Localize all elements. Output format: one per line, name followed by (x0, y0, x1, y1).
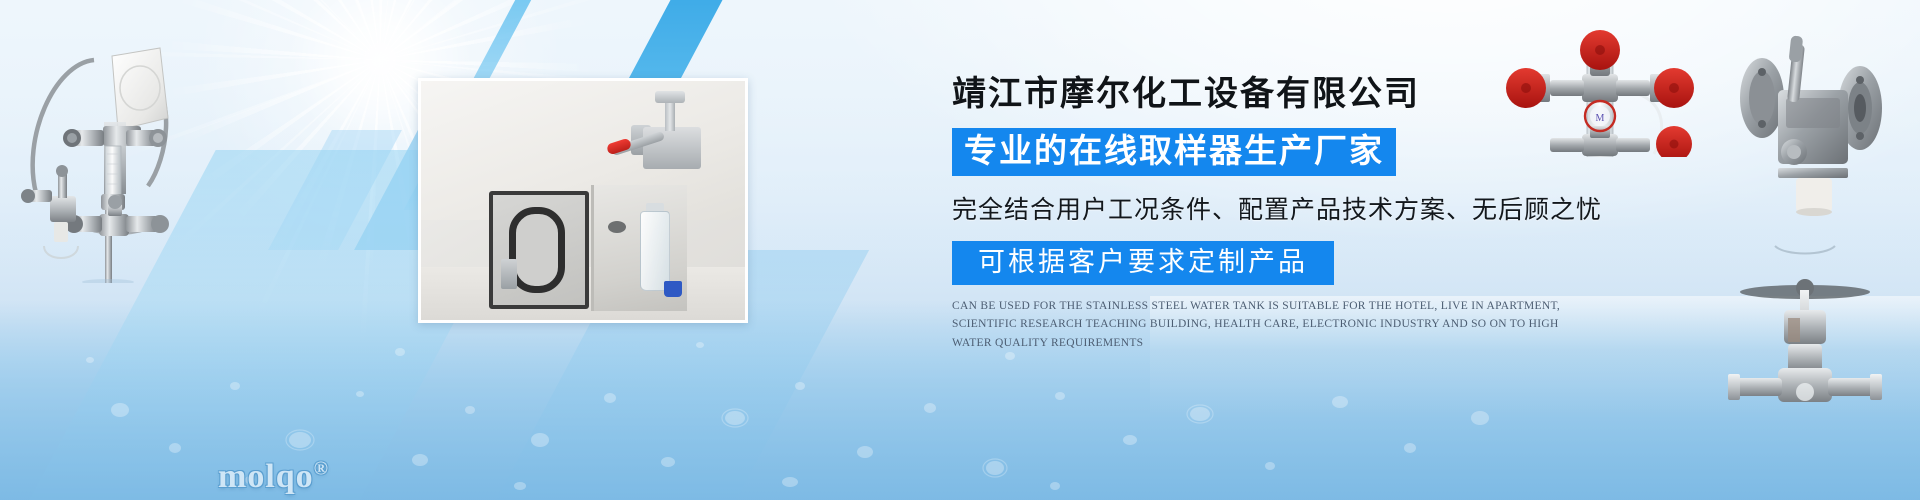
brand-logo: molqo® (218, 458, 328, 496)
center-product-photo (418, 78, 748, 323)
registered-trademark-icon: ® (314, 459, 328, 480)
headline-badge: 专业的在线取样器生产厂家 (952, 128, 1396, 176)
svg-text:M: M (1596, 113, 1605, 124)
product-image-left-sampler-assembly (8, 18, 193, 283)
subheadline: 完全结合用户工况条件、配置产品技术方案、无后顾之忧 (952, 190, 1572, 226)
cta-badge-custom-products[interactable]: 可根据客户要求定制产品 (952, 241, 1334, 285)
product-image-right-flanged-lever-valve (1702, 22, 1917, 217)
banner-text-block: 靖江市摩尔化工设备有限公司 专业的在线取样器生产厂家 完全结合用户工况条件、配置… (952, 66, 1572, 353)
diagonal-stripe (268, 130, 402, 250)
promo-banner: M (0, 0, 1920, 500)
english-description: CAN BE USED FOR THE STAINLESS STEEL WATE… (952, 297, 1564, 353)
brand-logo-text: molqo (218, 458, 314, 495)
company-name: 靖江市摩尔化工设备有限公司 (952, 66, 1572, 115)
product-image-right-handwheel-valve (1690, 232, 1920, 412)
